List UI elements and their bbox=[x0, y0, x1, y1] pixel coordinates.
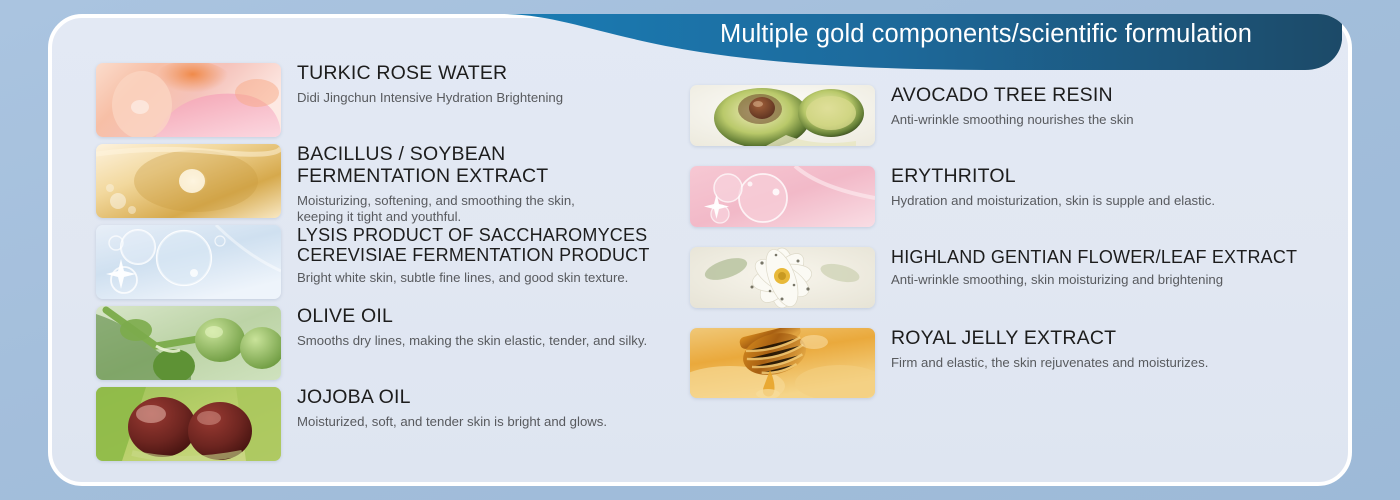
ingredient-title: OLIVE OIL bbox=[297, 306, 647, 328]
ingredient-desc: Anti-wrinkle smoothing, skin moisturizin… bbox=[891, 272, 1297, 289]
ingredient-text: AVOCADO TREE RESIN Anti-wrinkle smoothin… bbox=[875, 85, 1134, 128]
ingredient-text: HIGHLAND GENTIAN FLOWER/LEAF EXTRACT Ant… bbox=[875, 247, 1297, 289]
ingredient-desc: Moisturizing, softening, and smoothing t… bbox=[297, 193, 575, 226]
ingredient-title: AVOCADO TREE RESIN bbox=[891, 85, 1134, 107]
ingredient-row: OLIVE OIL Smooths dry lines, making the … bbox=[96, 306, 696, 380]
edelweiss-flower-photo bbox=[690, 247, 875, 308]
ingredient-title: JOJOBA OIL bbox=[297, 387, 607, 409]
ingredient-title: LYSIS PRODUCT OF SACCHAROMYCES CEREVISIA… bbox=[297, 225, 650, 265]
ingredient-desc: Moisturized, soft, and tender skin is br… bbox=[297, 414, 607, 431]
ingredient-desc: Didi Jingchun Intensive Hydration Bright… bbox=[297, 90, 563, 107]
ingredient-desc: Bright white skin, subtle fine lines, an… bbox=[297, 270, 650, 287]
ingredient-desc: Smooths dry lines, making the skin elast… bbox=[297, 333, 647, 350]
honey-dipper-photo bbox=[690, 328, 875, 398]
ingredient-text: BACILLUS / SOYBEAN FERMENTATION EXTRACT … bbox=[281, 144, 575, 226]
ingredient-title: ROYAL JELLY EXTRACT bbox=[891, 328, 1208, 350]
blue-bubbles-photo bbox=[96, 225, 281, 299]
ingredient-title: BACILLUS / SOYBEAN FERMENTATION EXTRACT bbox=[297, 144, 575, 188]
ingredient-title: ERYTHRITOL bbox=[891, 166, 1215, 188]
green-olives-photo bbox=[96, 306, 281, 380]
ingredient-text: OLIVE OIL Smooths dry lines, making the … bbox=[281, 306, 647, 349]
ingredient-title: HIGHLAND GENTIAN FLOWER/LEAF EXTRACT bbox=[891, 247, 1297, 267]
ingredient-desc: Hydration and moisturization, skin is su… bbox=[891, 193, 1215, 210]
ingredient-title: TURKIC ROSE WATER bbox=[297, 63, 563, 85]
golden-ferment-photo bbox=[96, 144, 281, 218]
ingredient-row: JOJOBA OIL Moisturized, soft, and tender… bbox=[96, 387, 696, 461]
avocado-photo bbox=[690, 85, 875, 146]
ingredient-row: LYSIS PRODUCT OF SACCHAROMYCES CEREVISIA… bbox=[96, 225, 696, 299]
rose-petal-photo bbox=[96, 63, 281, 137]
ingredient-desc: Anti-wrinkle smoothing nourishes the ski… bbox=[891, 112, 1134, 129]
ingredient-text: ERYTHRITOL Hydration and moisturization,… bbox=[875, 166, 1215, 209]
ingredient-row: BACILLUS / SOYBEAN FERMENTATION EXTRACT … bbox=[96, 144, 696, 226]
ingredient-row: AVOCADO TREE RESIN Anti-wrinkle smoothin… bbox=[690, 85, 1310, 146]
ingredient-text: JOJOBA OIL Moisturized, soft, and tender… bbox=[281, 387, 607, 430]
ingredient-row: HIGHLAND GENTIAN FLOWER/LEAF EXTRACT Ant… bbox=[690, 247, 1310, 308]
ingredient-text: ROYAL JELLY EXTRACT Firm and elastic, th… bbox=[875, 328, 1208, 371]
pink-bubbles-photo bbox=[690, 166, 875, 227]
ingredient-desc: Firm and elastic, the skin rejuvenates a… bbox=[891, 355, 1208, 372]
ingredient-row: TURKIC ROSE WATER Didi Jingchun Intensiv… bbox=[96, 63, 696, 137]
ingredient-row: ERYTHRITOL Hydration and moisturization,… bbox=[690, 166, 1310, 227]
ingredient-text: LYSIS PRODUCT OF SACCHAROMYCES CEREVISIA… bbox=[281, 225, 650, 287]
jojoba-fruit-photo bbox=[96, 387, 281, 461]
ingredient-row: ROYAL JELLY EXTRACT Firm and elastic, th… bbox=[690, 328, 1310, 398]
ingredient-text: TURKIC ROSE WATER Didi Jingchun Intensiv… bbox=[281, 63, 563, 106]
